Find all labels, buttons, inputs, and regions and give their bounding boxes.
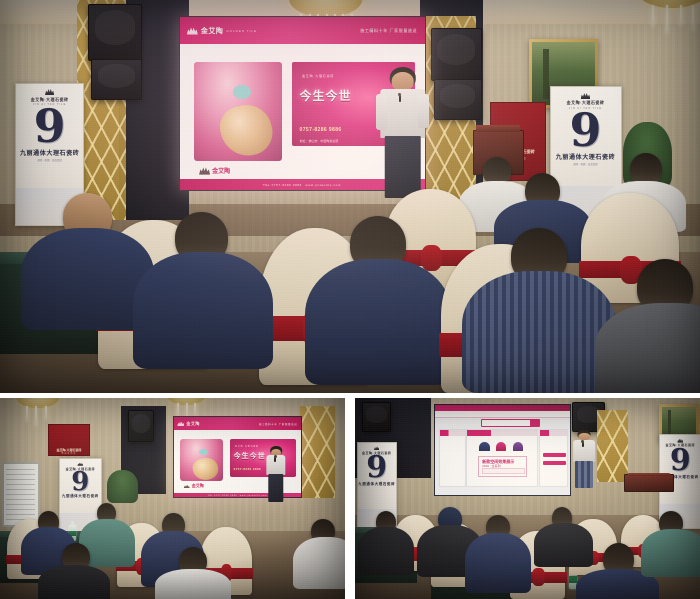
equipment-table <box>624 474 674 492</box>
presenter <box>569 430 600 494</box>
slide-logo-text: 金艾陶 <box>192 483 204 489</box>
gold-truss <box>597 410 628 482</box>
dashboard-projection-screen: 新款空间效果展示 2016 · 全系列 <box>434 404 571 496</box>
slide-model-image <box>180 439 223 481</box>
presenter-arm-right <box>418 94 429 128</box>
pa-speaker-left <box>362 402 392 432</box>
standee-number: 9 <box>34 108 66 146</box>
slide-brand-name: 金艾陶 <box>186 421 200 427</box>
promo-kicker: 金艾陶·大理石瓷砖 <box>235 445 259 448</box>
presenter <box>371 67 434 208</box>
pa-speaker <box>128 410 154 442</box>
gold-truss <box>300 406 335 498</box>
photo-collage: 金艾陶 GOLDEN TILE 施工精料十年 厂家限量放送 www.jintao… <box>0 0 700 599</box>
dashboard-card-note <box>482 468 525 474</box>
gauge-purple <box>513 442 523 451</box>
crown-icon <box>187 27 198 35</box>
slide-logo: 金艾陶 <box>184 483 204 489</box>
pa-speaker-right-bottom <box>434 79 482 120</box>
pa-speaker-left-top <box>88 4 143 61</box>
dashboard-action-button[interactable] <box>543 453 566 457</box>
crown-icon <box>177 421 184 426</box>
audience-shoulders <box>293 537 345 589</box>
slide-header: 金艾陶 施工精料十年 厂家限量放送 <box>174 417 302 430</box>
info-easel-board <box>2 462 41 526</box>
audience-head <box>630 153 662 184</box>
red-brand-panel: 金艾陶·大理石瓷砖 新品发布会 <box>48 424 89 456</box>
gauge-navy <box>479 442 489 451</box>
standee-number: 9 <box>670 449 691 474</box>
crown-icon <box>77 462 83 466</box>
audience-shoulders <box>155 569 231 599</box>
audience-shoulders <box>465 533 531 593</box>
audience-shoulders <box>462 271 616 393</box>
standee-number: 9 <box>366 456 387 481</box>
crown-icon <box>184 484 190 488</box>
slide-brand-en: GOLDEN TILE <box>226 29 257 33</box>
audience-shoulders <box>305 259 452 385</box>
red-panel-title: 金艾陶·大理石瓷砖 <box>56 448 81 452</box>
main-stage-photo: 金艾陶 GOLDEN TILE 施工精料十年 厂家限量放送 www.jintao… <box>0 0 700 393</box>
dashboard-card: 新款空间效果展示 2016 · 全系列 <box>478 456 526 477</box>
promo-telephone: 0757-8286 9886 <box>234 467 261 471</box>
handheld-microphone <box>582 442 584 447</box>
promo-subline: 地址：佛山市 · 中国陶瓷总部 <box>300 139 339 143</box>
red-panel-sub: 新品发布会 <box>61 452 76 455</box>
crystal-chandelier-right <box>623 0 700 35</box>
dashboard-slide-photo: 新款空间效果展示 2016 · 全系列 金艾陶·大理石瓷砖 9 九丽通体大理石瓷… <box>355 398 700 599</box>
search-input[interactable] <box>481 419 540 427</box>
presenter-shirt <box>574 440 596 462</box>
crown-icon <box>581 92 591 99</box>
crown-icon <box>199 167 210 175</box>
slide-tagline: 施工精料十年 厂家限量放送 <box>360 28 417 34</box>
slide-tagline: 施工精料十年 厂家限量放送 <box>259 422 298 426</box>
slide-brand-name: 金艾陶 <box>201 26 224 36</box>
presenter-head <box>391 72 414 90</box>
pa-speaker-left-bottom <box>91 59 142 100</box>
promo-headline: 今生今世 <box>234 451 266 461</box>
crystal-chandelier <box>7 398 69 426</box>
standee-title: 九丽通体大理石瓷砖 <box>358 482 395 487</box>
audience-shoulders <box>358 527 413 575</box>
promo-kicker: 金艾陶·大理石瓷砖 <box>302 74 334 78</box>
dashboard-right-panel <box>539 429 568 487</box>
slide-model-image <box>194 62 282 161</box>
standee-number: 9 <box>71 472 89 493</box>
presenter-arm-left <box>376 94 387 131</box>
presenter <box>262 446 290 506</box>
standee-title: 九丽通体大理石瓷砖 <box>556 152 615 161</box>
dashboard-action-button-2[interactable] <box>543 461 566 465</box>
promo-telephone: 0757-8286 9886 <box>300 127 342 133</box>
audience-shoulders <box>133 252 273 370</box>
crown-icon <box>45 88 54 95</box>
dashboard-center-panel: 新款空间效果展示 2016 · 全系列 <box>466 429 538 487</box>
presenter-trousers <box>384 136 421 198</box>
dashboard-nav <box>435 411 570 417</box>
presenter-trousers <box>268 474 283 502</box>
dashboard-left-panel <box>439 429 465 487</box>
potted-plant <box>107 470 138 502</box>
handheld-microphone <box>399 95 401 102</box>
wide-room-photo: 金艾陶 施工精料十年 厂家限量放送 金艾陶·大理石瓷砖 今生今世 0757-82… <box>0 398 345 599</box>
standee-number: 9 <box>569 112 601 150</box>
audience-shoulders <box>641 529 700 577</box>
standee-title: 九丽通体大理石瓷砖 <box>20 148 79 157</box>
crown-icon <box>374 446 379 450</box>
promo-headline: 今生今世 <box>300 87 352 104</box>
presenter-trousers <box>575 461 593 488</box>
standee-footer: 通体 · 耐磨 · 高清纹理 <box>573 162 597 166</box>
audience-shoulders <box>534 523 593 567</box>
slide-logo-text: 金艾陶 <box>212 166 230 175</box>
audience-shoulders <box>38 565 110 599</box>
slide-logo: 金艾陶 <box>199 166 230 175</box>
slide-header: 金艾陶 GOLDEN TILE 施工精料十年 厂家限量放送 <box>180 17 425 45</box>
standee-title: 九丽通体大理石瓷砖 <box>62 494 99 499</box>
gauge-pink <box>496 442 506 451</box>
crown-icon <box>677 438 683 443</box>
standee-footer: 通体 · 耐磨 · 高清纹理 <box>37 158 61 162</box>
pa-speaker-right-top <box>431 28 482 81</box>
